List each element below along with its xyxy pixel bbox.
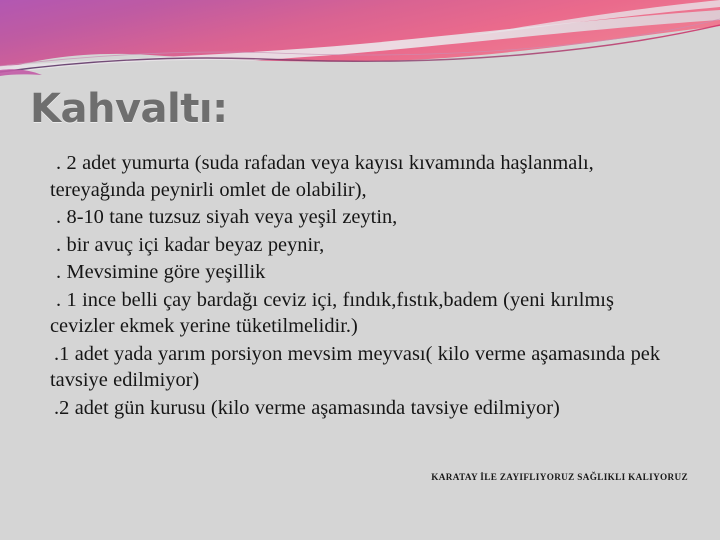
list-item: . 2 adet yumurta (suda rafadan veya kayı… xyxy=(50,150,678,203)
list-item: . 1 ince belli çay bardağı ceviz içi, fı… xyxy=(50,287,678,340)
banner-wave-graphic xyxy=(0,0,720,92)
list-item: . 8-10 tane tuzsuz siyah veya yeşil zeyt… xyxy=(50,204,678,231)
page-title: Kahvaltı: xyxy=(30,88,228,130)
footer-branding-text: KARATAY İLE ZAYIFLIYORUZ SAĞLIKLI KALIYO… xyxy=(431,472,688,482)
breakfast-item-list: . 2 adet yumurta (suda rafadan veya kayı… xyxy=(50,150,678,422)
list-item: .1 adet yada yarım porsiyon mevsim meyva… xyxy=(50,341,678,394)
list-item: . bir avuç içi kadar beyaz peynir, xyxy=(50,232,678,259)
list-item: .2 adet gün kurusu (kilo verme aşamasınd… xyxy=(50,395,678,422)
pink-wave-banner xyxy=(0,0,720,92)
slide-canvas: Kahvaltı: . 2 adet yumurta (suda rafadan… xyxy=(0,0,720,540)
list-item: . Mevsimine göre yeşillik xyxy=(50,259,678,286)
